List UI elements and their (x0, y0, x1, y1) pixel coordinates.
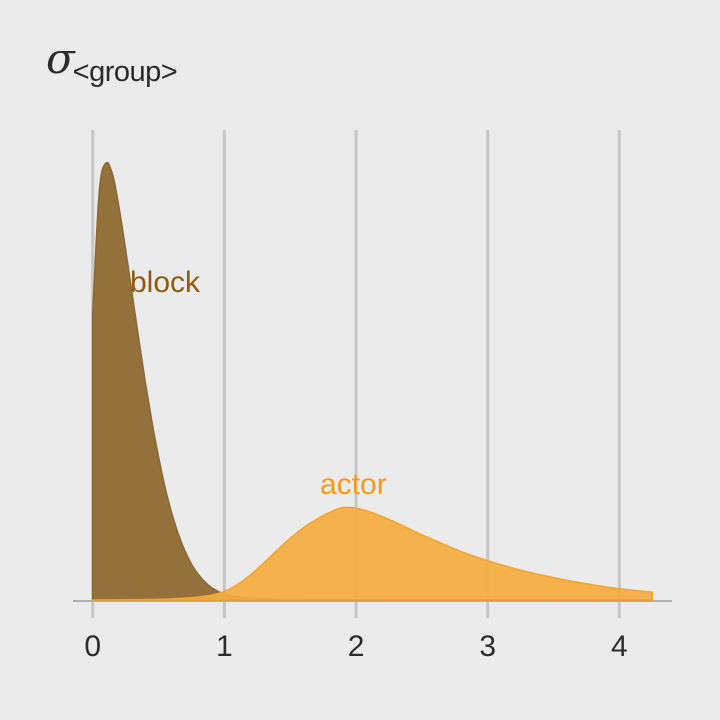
density-plot (0, 0, 720, 720)
x-tick-label-2: 2 (326, 630, 386, 664)
x-tick-label-4: 4 (589, 630, 649, 664)
density-series-group (93, 163, 653, 600)
series-label-actor: actor (320, 468, 387, 502)
x-tick-label-1: 1 (194, 630, 254, 664)
density-plot-svg (0, 0, 720, 720)
chart-page: σ<group> 01234 blockactor (0, 0, 720, 720)
x-tick-label-0: 0 (63, 630, 123, 664)
series-label-block: block (130, 266, 200, 300)
x-tick-label-3: 3 (458, 630, 518, 664)
